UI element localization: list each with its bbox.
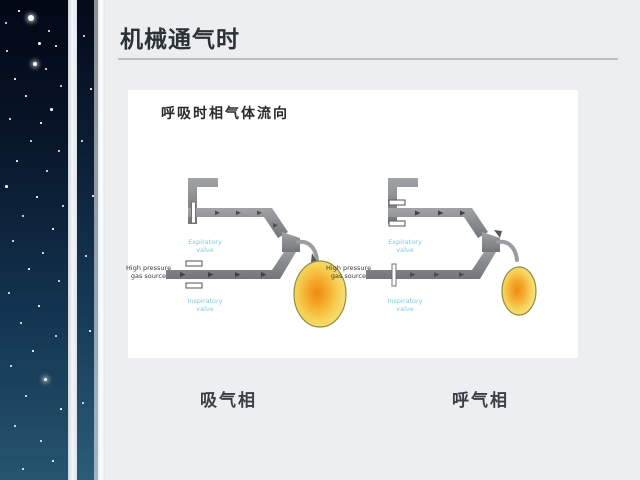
star-icon [32, 350, 34, 352]
star-icon [28, 15, 34, 21]
star-icon [22, 215, 24, 217]
caption-expiratory-phase: 呼气相 [452, 386, 509, 411]
star-icon [10, 365, 12, 367]
inspiratory-valve-label: Inspiratory valve [374, 297, 436, 313]
star-icon [55, 335, 57, 337]
figure-panel: 呼吸时相气体流向 [128, 90, 578, 358]
star-icon [50, 108, 53, 111]
star-icon [30, 140, 32, 142]
vertical-divider-stripe-2 [98, 0, 105, 480]
star-icon [46, 170, 48, 172]
star-icon [25, 95, 27, 97]
star-icon [38, 305, 40, 307]
star-icon [58, 150, 60, 152]
star-icon [45, 68, 47, 70]
star-icon [62, 205, 64, 207]
figure-heading: 呼吸时相气体流向 [161, 103, 289, 123]
star-icon [90, 88, 92, 90]
star-icon [83, 35, 85, 37]
star-icon [18, 10, 20, 12]
star-icon [6, 50, 8, 52]
star-icon [8, 292, 10, 294]
star-icon [9, 118, 11, 120]
star-icon [22, 468, 24, 470]
vertical-divider-stripe-1 [68, 0, 77, 480]
star-icon [40, 440, 42, 442]
vertical-divider-highlight [94, 0, 98, 480]
expiratory-valve-open-upper-plate [389, 200, 405, 205]
inspiratory-valve-open-lower-plate [186, 283, 202, 288]
star-icon [16, 160, 18, 162]
star-icon [58, 280, 60, 282]
star-icon [5, 185, 8, 188]
expiratory-valve-label: Expiratory valve [374, 238, 436, 254]
star-icon [36, 196, 38, 198]
star-icon [33, 62, 37, 66]
star-icon [52, 228, 54, 230]
expiratory-valve-closed [192, 202, 196, 223]
star-icon [14, 78, 16, 80]
gas-source-label: High pressure gas source [126, 264, 166, 280]
star-icon [25, 395, 27, 397]
patient-tubing [498, 242, 517, 260]
page-title: 机械通气时 [120, 20, 240, 54]
ventilator-circuit-svg-expiratory [360, 160, 560, 350]
star-icon [38, 42, 41, 45]
star-icon [14, 425, 16, 427]
star-icon [85, 255, 87, 257]
star-icon [48, 30, 50, 32]
ventilator-circuit-svg-inspiratory [160, 160, 360, 350]
slide-canvas: 机械通气时 呼吸时相气体流向 [0, 0, 640, 480]
star-icon [60, 408, 62, 410]
inspiratory-valve-label: Inspiratory valve [174, 297, 236, 313]
lung-deflated [502, 267, 536, 315]
star-icon [52, 460, 54, 462]
star-icon [12, 240, 14, 242]
star-icon [89, 330, 91, 332]
inspiratory-valve-open-upper-plate [186, 261, 202, 266]
starfield-band-outer [0, 0, 68, 480]
star-icon [20, 322, 22, 324]
expiratory-valve-label: Expiratory valve [174, 238, 236, 254]
star-icon [5, 22, 7, 24]
expiratory-valve-open-lower-plate [389, 221, 405, 226]
diagram-expiratory-phase: Expiratory valve Inspiratory valve High … [360, 160, 560, 350]
title-underline-rule [118, 58, 618, 60]
star-icon [55, 45, 57, 47]
star-icon [82, 402, 84, 404]
diagram-inspiratory-phase: Expiratory valve Inspiratory valve High … [160, 160, 360, 350]
star-icon [28, 268, 30, 270]
inspiratory-valve-closed [392, 264, 396, 286]
star-icon [40, 122, 42, 124]
caption-inspiratory-phase: 吸气相 [200, 386, 257, 411]
star-icon [60, 85, 62, 87]
star-icon [42, 252, 44, 254]
star-icon [44, 378, 47, 381]
gas-source-label: High pressure gas source [326, 264, 366, 280]
star-icon [81, 140, 83, 142]
